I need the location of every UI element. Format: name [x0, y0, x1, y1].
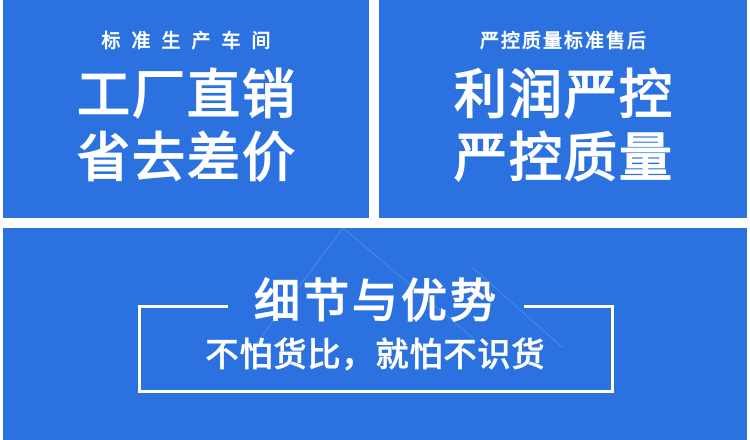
panel-left-eyebrow: 标准生产车间	[90, 32, 281, 51]
promo-banner: 标准生产车间 工厂直销 省去差价 严控质量标准售后 利润严控 严控质量 细节与优…	[0, 0, 750, 440]
panel-bottom-content: 细节与优势 不怕货比，就怕不识货	[3, 228, 747, 440]
bottom-title: 细节与优势	[3, 278, 747, 324]
bottom-subtitle: 不怕货比，就怕不识货	[3, 338, 747, 371]
panel-left-headline-line1: 工厂直销	[75, 69, 297, 124]
panel-right-headline-line2: 严控质量	[452, 132, 674, 187]
panel-right-eyebrow: 严控质量标准售后	[478, 32, 648, 51]
panel-right-content: 严控质量标准售后 利润严控 严控质量	[379, 0, 747, 218]
panel-factory-direct: 标准生产车间 工厂直销 省去差价	[3, 0, 369, 218]
panel-details-advantages: 细节与优势 不怕货比，就怕不识货	[3, 228, 747, 440]
panel-right-headline-line1: 利润严控	[452, 69, 674, 124]
panel-quality-control: 严控质量标准售后 利润严控 严控质量	[379, 0, 747, 218]
panel-left-content: 标准生产车间 工厂直销 省去差价	[3, 0, 369, 218]
panel-left-headline-line2: 省去差价	[75, 132, 297, 187]
